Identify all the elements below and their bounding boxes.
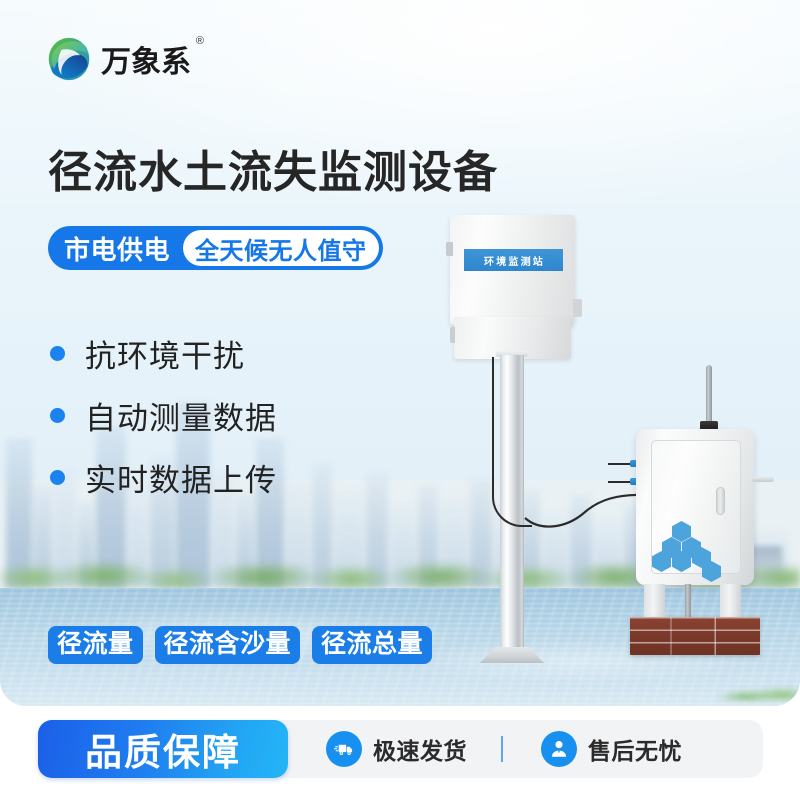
- measurement-tags: 径流量 径流含沙量 径流总量: [48, 626, 432, 664]
- quality-guarantee-label: 品质保障: [85, 722, 241, 776]
- monitor-board-banner: 环境监测站: [464, 249, 563, 271]
- badge-secondary-chip: 全天候无人值守: [183, 230, 379, 266]
- quality-guarantee-badge: 品质保障: [38, 720, 288, 778]
- brick-foundation: [630, 617, 760, 655]
- badge-primary-label: 市电供电: [64, 230, 183, 267]
- bullet-dot-icon: [50, 346, 65, 361]
- feature-label: 实时数据上传: [85, 455, 277, 500]
- monitor-display-box: 环境监测站: [450, 215, 575, 325]
- monitoring-station: 环境监测站: [440, 215, 600, 675]
- box-tab-left-lower: [450, 327, 455, 343]
- trust-divider: [501, 736, 503, 762]
- tag-runoff-volume: 径流量: [48, 626, 143, 664]
- feature-label: 自动测量数据: [85, 393, 277, 438]
- registered-mark: ®: [196, 35, 204, 47]
- feature-label: 抗环境干扰: [85, 331, 245, 376]
- brand-name: 万象系 ®: [101, 37, 191, 81]
- page-title: 径流水土流失监测设备: [48, 136, 498, 200]
- list-item: 抗环境干扰: [50, 322, 277, 384]
- box-tab-right: [573, 299, 582, 317]
- product-banner: 环境监测站: [0, 0, 800, 800]
- cabinet-side-pipe: [752, 477, 774, 482]
- badge-secondary-label: 全天候无人值守: [195, 231, 367, 266]
- monitor-board-label: 环境监测站: [482, 253, 545, 268]
- hero-photo-area: 环境监测站: [0, 0, 800, 706]
- tag-total-runoff: 径流总量: [312, 626, 432, 664]
- cabinet-body: [636, 429, 754, 585]
- trust-bar: 品质保障 极速发货: [38, 720, 763, 778]
- bullet-dot-icon: [50, 470, 65, 485]
- brand-name-text: 万象系: [101, 46, 191, 79]
- trust-item-shipping: 极速发货: [288, 731, 467, 767]
- pole-base-plate: [480, 647, 544, 663]
- grass-patch: [710, 678, 800, 700]
- hexagon-pattern: [650, 521, 722, 561]
- antenna-icon: [706, 365, 712, 423]
- brand-logo[interactable]: 万象系 ®: [46, 36, 191, 82]
- tag-sediment-content: 径流含沙量: [155, 626, 301, 664]
- status-badge: 市电供电 全天候无人值守: [48, 226, 383, 270]
- cabinet-door-handle[interactable]: [716, 487, 725, 515]
- trust-label-shipping: 极速发货: [373, 732, 467, 766]
- customer-service-icon: [541, 731, 577, 767]
- cable-swoop: [525, 470, 645, 530]
- control-cabinet: [630, 365, 770, 665]
- trust-item-aftersales: 售后无忧: [503, 731, 682, 767]
- list-item: 实时数据上传: [50, 446, 277, 508]
- globe-swirl-logo-icon: [46, 36, 92, 82]
- bullet-dot-icon: [50, 408, 65, 423]
- trust-label-aftersales: 售后无忧: [588, 732, 682, 766]
- list-item: 自动测量数据: [50, 384, 277, 446]
- feature-list: 抗环境干扰 自动测量数据 实时数据上传: [50, 322, 277, 508]
- box-tab-left: [446, 242, 453, 256]
- delivery-truck-icon: [326, 731, 362, 767]
